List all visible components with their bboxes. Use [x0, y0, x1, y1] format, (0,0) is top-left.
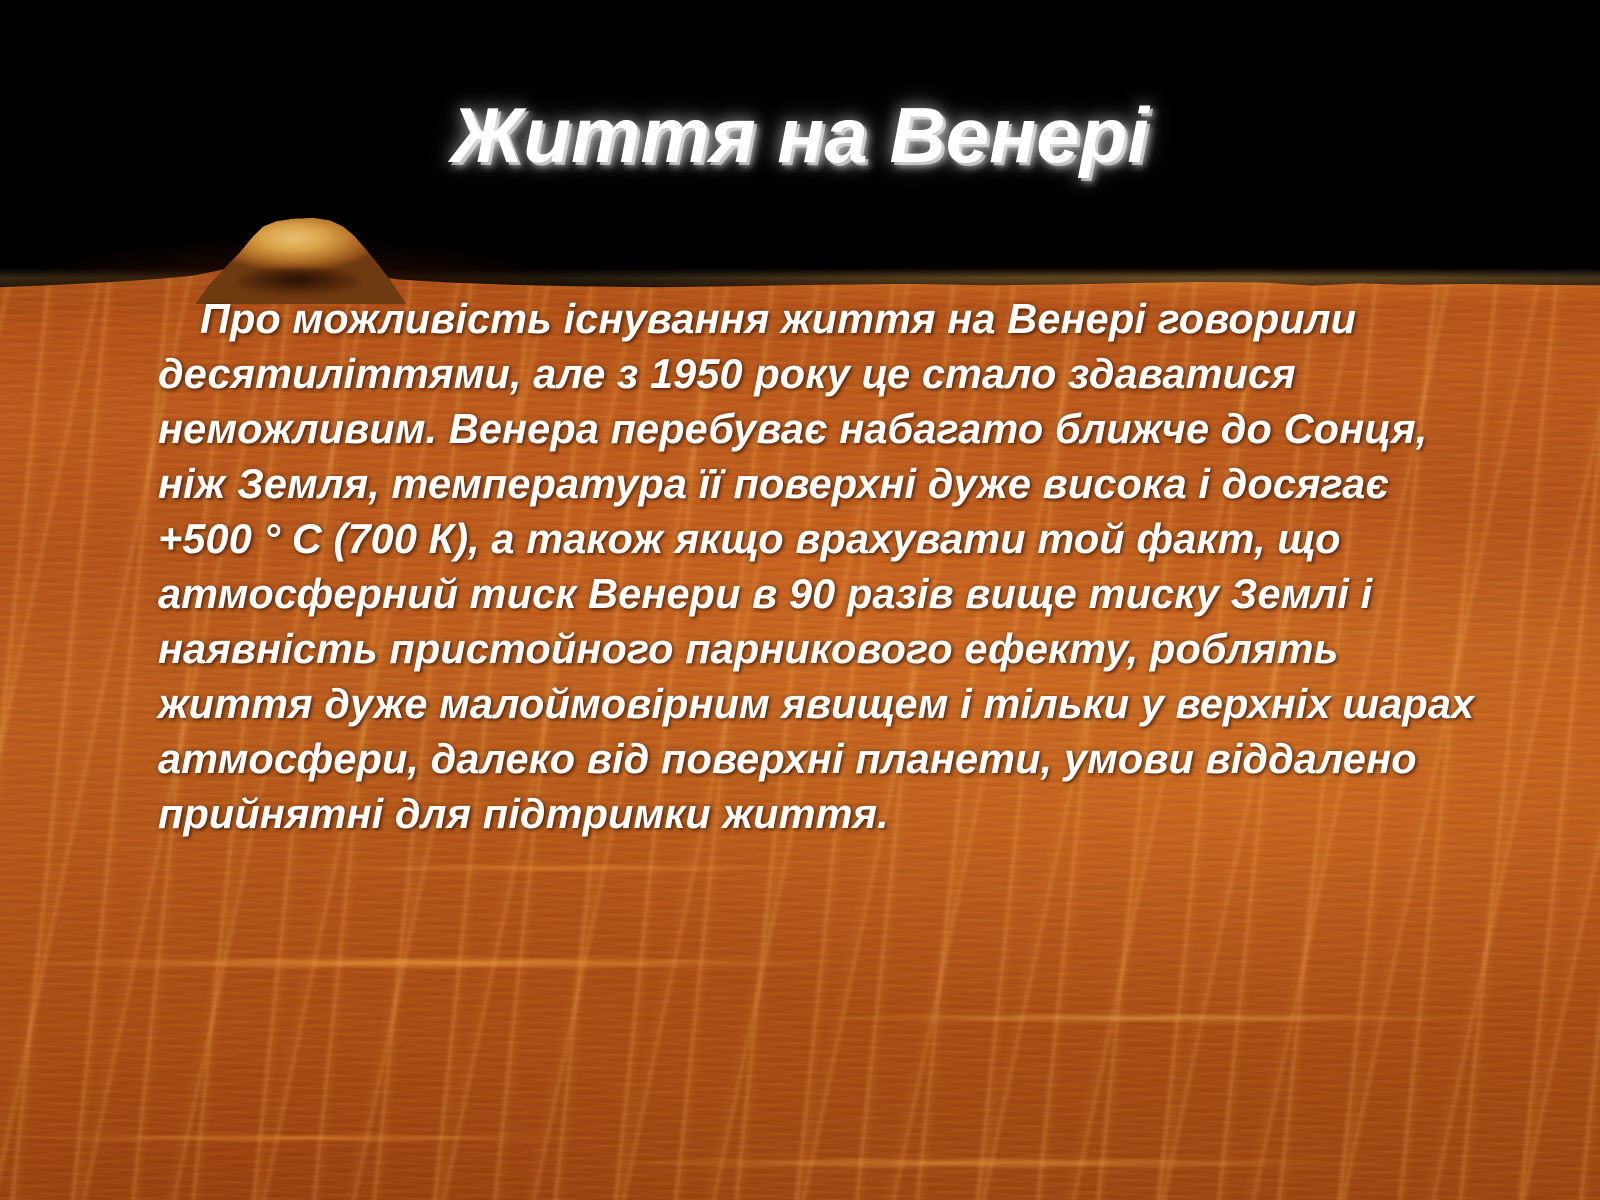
slide-title: Життя на Венері: [0, 96, 1600, 174]
slide-body-text: Про можливість існування життя на Венері…: [158, 291, 1488, 841]
body-paragraph: Про можливість існування життя на Венері…: [158, 295, 1474, 837]
presentation-slide: Життя на Венері Про можливість існування…: [0, 0, 1600, 1200]
